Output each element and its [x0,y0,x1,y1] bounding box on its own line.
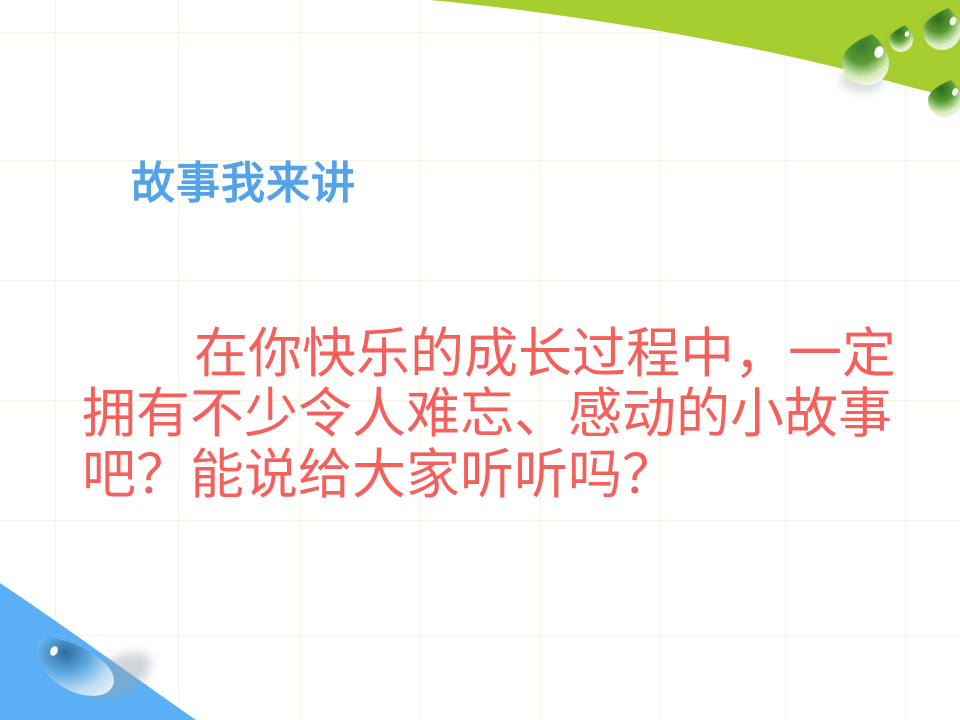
green-curved-banner [400,0,960,130]
grid-line-horizontal [0,280,960,281]
body-paragraph: 在你快乐的成长过程中，一定拥有不少令人难忘、感动的小故事吧？能说给大家听听吗？ [82,324,902,505]
page-title: 故事我来讲 [131,160,356,208]
grid-line-horizontal [0,520,960,521]
blue-curved-corner [0,575,230,720]
blue-shape-fill [0,583,196,720]
slide-canvas: 故事我来讲 在你快乐的成长过程中，一定拥有不少令人难忘、感动的小故事吧？能说给大… [0,0,960,720]
